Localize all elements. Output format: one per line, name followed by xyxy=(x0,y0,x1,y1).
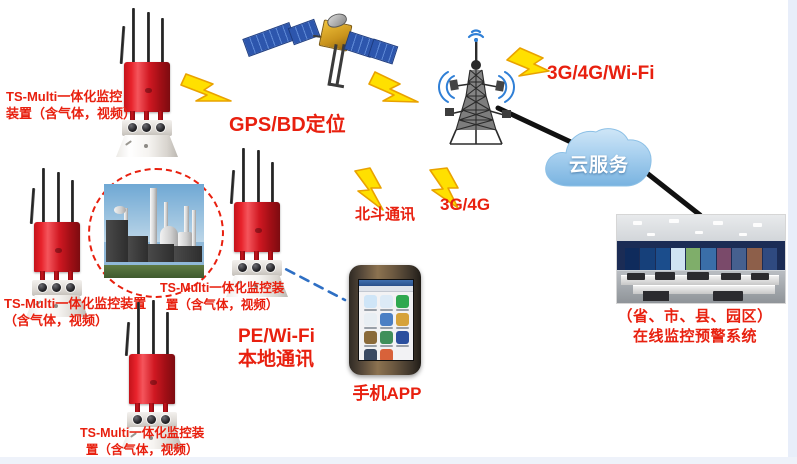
label-control-center: （省、市、县、园区） 在线监控预警系统 xyxy=(600,307,790,347)
cloud-icon: 云服务 xyxy=(540,120,658,194)
app-tile[interactable] xyxy=(395,331,409,347)
app-tile[interactable] xyxy=(379,295,393,311)
app-tile[interactable] xyxy=(379,313,393,329)
label-3g4g-wifi: 3G/4G/Wi-Fi xyxy=(547,61,655,86)
cloud-label: 云服务 xyxy=(540,150,658,177)
diagram-canvas: 云服务 TS-Multi一体化监控 装置（含气体，视频） xyxy=(0,0,797,464)
app-tile[interactable] xyxy=(363,295,377,311)
label-device-top-left: TS-Multi一体化监控 装置（含气体，视频） xyxy=(6,88,136,122)
label-3g4g: 3G/4G xyxy=(440,194,490,216)
app-tile[interactable] xyxy=(363,313,377,329)
refinery-inset xyxy=(88,168,220,294)
refinery-photo xyxy=(104,184,204,278)
app-tile[interactable] xyxy=(395,313,409,329)
monitor-device-1 xyxy=(108,8,184,154)
control-room-photo xyxy=(616,214,786,304)
handheld-device-icon[interactable] xyxy=(349,265,421,375)
bolt-device-to-satellite xyxy=(181,74,231,101)
satellite-icon xyxy=(243,6,371,92)
label-gps: GPS/BD定位 xyxy=(229,112,346,138)
bolt-phone-beidou xyxy=(355,168,383,210)
app-tile[interactable] xyxy=(395,349,409,361)
label-phone-app: 手机APP xyxy=(352,383,422,405)
app-tile[interactable] xyxy=(379,331,393,347)
monitor-device-2 xyxy=(18,168,94,314)
phone-app-grid[interactable] xyxy=(359,292,413,361)
label-local-comm: PE/Wi-Fi 本地通讯 xyxy=(238,326,315,372)
app-tile[interactable] xyxy=(363,349,377,361)
app-tile[interactable] xyxy=(379,349,393,361)
label-beidou: 北斗通讯 xyxy=(355,205,415,225)
monitor-device-3 xyxy=(218,148,294,294)
app-tile[interactable] xyxy=(395,295,409,311)
bolt-satellite-to-tower xyxy=(369,72,418,102)
app-tile[interactable] xyxy=(363,331,377,347)
cell-tower-icon xyxy=(432,18,522,150)
label-device-bottom: TS-Multi一体化监控装 置（含气体，视频） xyxy=(80,425,204,458)
